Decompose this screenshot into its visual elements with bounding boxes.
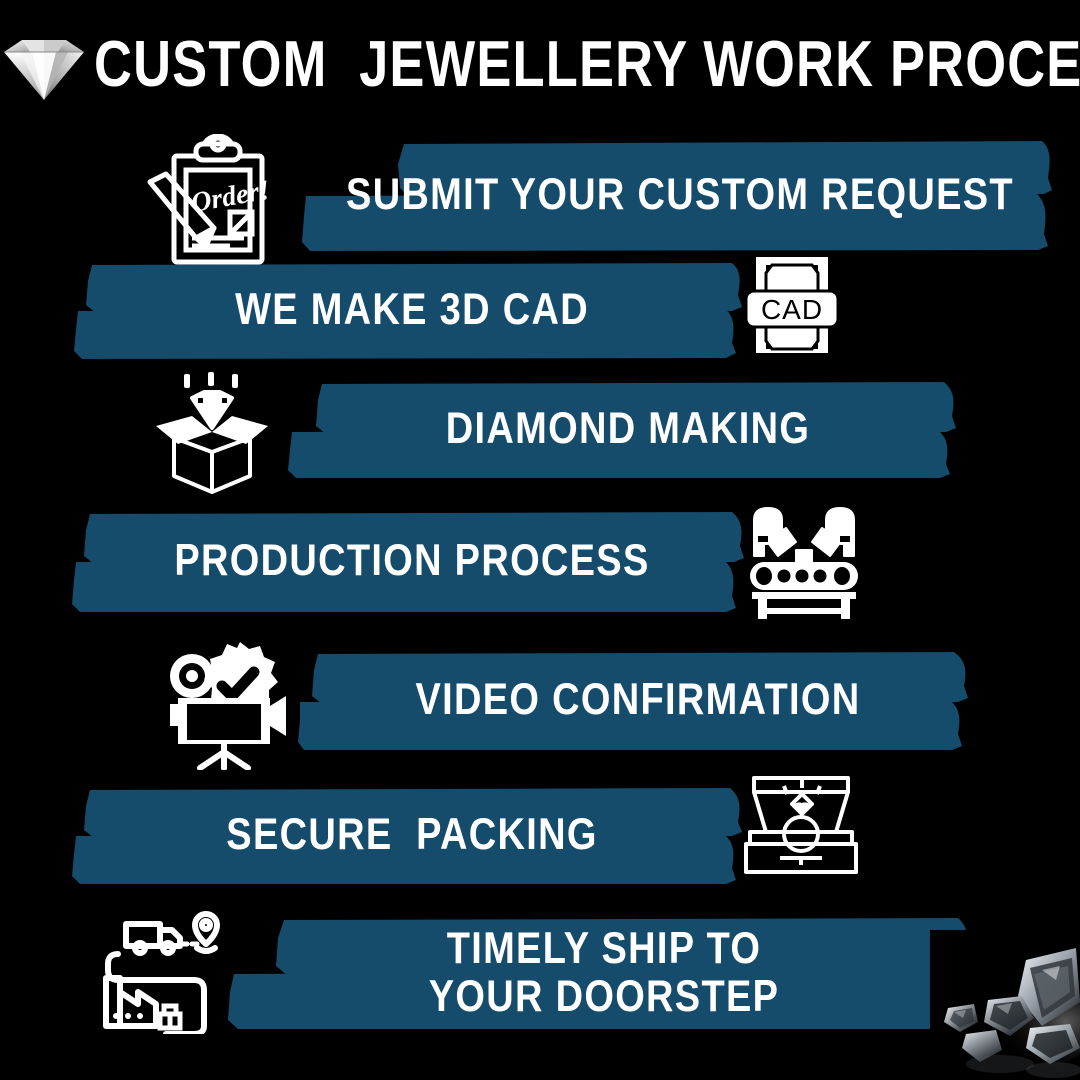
step-banner-5[interactable]: VIDEO CONFIRMATION — [298, 650, 978, 752]
diamond-gem-icon — [0, 24, 90, 104]
cad-printer-icon: CAD — [736, 253, 848, 359]
step-banner-6[interactable]: SECURE PACKING — [72, 786, 752, 886]
factory-truck-route-icon — [98, 910, 228, 1034]
step-row-5: VIDEO CONFIRMATION — [0, 636, 1080, 771]
step-banner-3[interactable]: DIAMOND MAKING — [288, 380, 968, 480]
step-row-6: SECURE PACKING — [0, 778, 1080, 898]
step-row-2: WE MAKE 3D CAD CAD — [0, 255, 1080, 360]
diamond-in-box-icon — [152, 368, 276, 496]
step-row-1: Order! SUBMIT YOUR CUSTOM REQUEST — [0, 130, 1080, 265]
svg-text:CAD: CAD — [761, 294, 823, 325]
step-banner-2[interactable]: WE MAKE 3D CAD — [72, 261, 752, 361]
ring-box-icon — [740, 774, 862, 882]
clipboard-order-pencil-icon: Order! — [136, 134, 276, 266]
step-row-7: TIMELY SHIP TO YOUR DOORSTEP — [0, 898, 1080, 1048]
step-banner-4[interactable]: PRODUCTION PROCESS — [72, 510, 752, 614]
video-camera-check-icon — [160, 640, 290, 770]
step-banner-7[interactable]: TIMELY SHIP TO YOUR DOORSTEP — [228, 916, 980, 1032]
step-row-4: PRODUCTION PROCESS — [0, 500, 1080, 630]
infographic-page: CUSTOM JEWELLERY WORK PROCESS Order! — [0, 0, 1080, 1080]
robotic-arms-conveyor-icon — [742, 504, 866, 620]
page-title: CUSTOM JEWELLERY WORK PROCESS — [94, 32, 1080, 97]
page-header: CUSTOM JEWELLERY WORK PROCESS — [0, 18, 1080, 110]
step-row-3: DIAMOND MAKING — [0, 366, 1080, 496]
step-banner-1[interactable]: SUBMIT YOUR CUSTOM REQUEST — [300, 138, 1060, 254]
